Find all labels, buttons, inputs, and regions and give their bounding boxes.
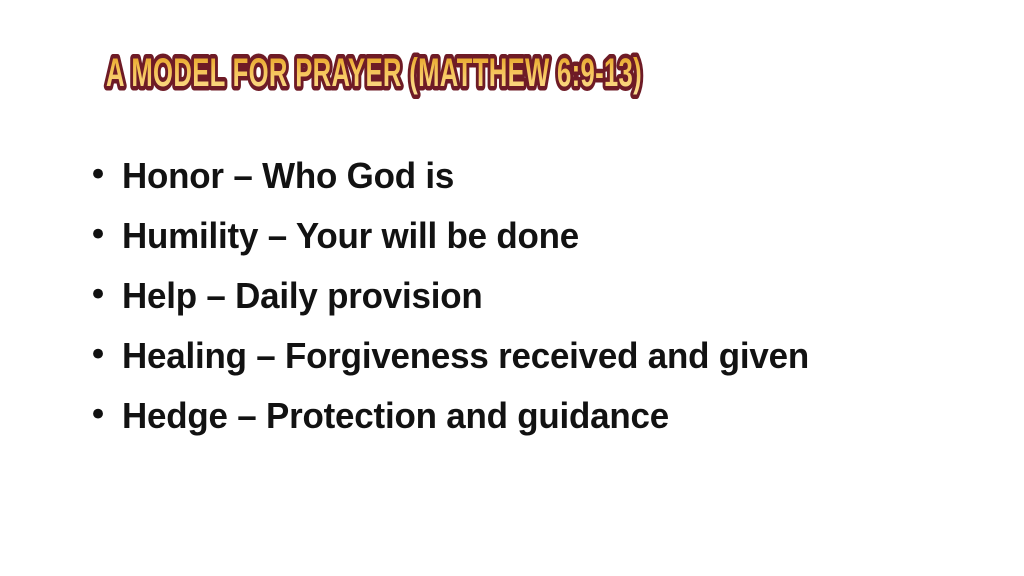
bullet-marker-icon: • (88, 158, 122, 192)
bullet-marker-icon: • (88, 398, 122, 432)
bullet-marker-icon: • (88, 338, 122, 372)
bullet-marker-icon: • (88, 278, 122, 312)
list-item-label: Honor – Who God is (122, 158, 454, 194)
list-item-label: Healing – Forgiveness received and given (122, 338, 809, 374)
slide-title-graphic: A MODEL FOR PRAYER (MATTHEW 6:9-13) A MO… (104, 48, 664, 104)
list-item: • Humility – Your will be done (88, 218, 988, 278)
list-item-label: Help – Daily provision (122, 278, 483, 314)
slide-title-text: A MODEL FOR PRAYER (MATTHEW 6:9-13) (106, 51, 642, 95)
list-item-label: Humility – Your will be done (122, 218, 579, 254)
bullet-marker-icon: • (88, 218, 122, 252)
list-item: • Help – Daily provision (88, 278, 988, 338)
presentation-slide: A MODEL FOR PRAYER (MATTHEW 6:9-13) A MO… (0, 0, 1024, 576)
slide-title: A MODEL FOR PRAYER (MATTHEW 6:9-13) A MO… (104, 52, 664, 100)
list-item: • Healing – Forgiveness received and giv… (88, 338, 988, 398)
list-item-label: Hedge – Protection and guidance (122, 398, 669, 434)
bullet-list: • Honor – Who God is • Humility – Your w… (88, 158, 988, 458)
list-item: • Hedge – Protection and guidance (88, 398, 988, 458)
list-item: • Honor – Who God is (88, 158, 988, 218)
